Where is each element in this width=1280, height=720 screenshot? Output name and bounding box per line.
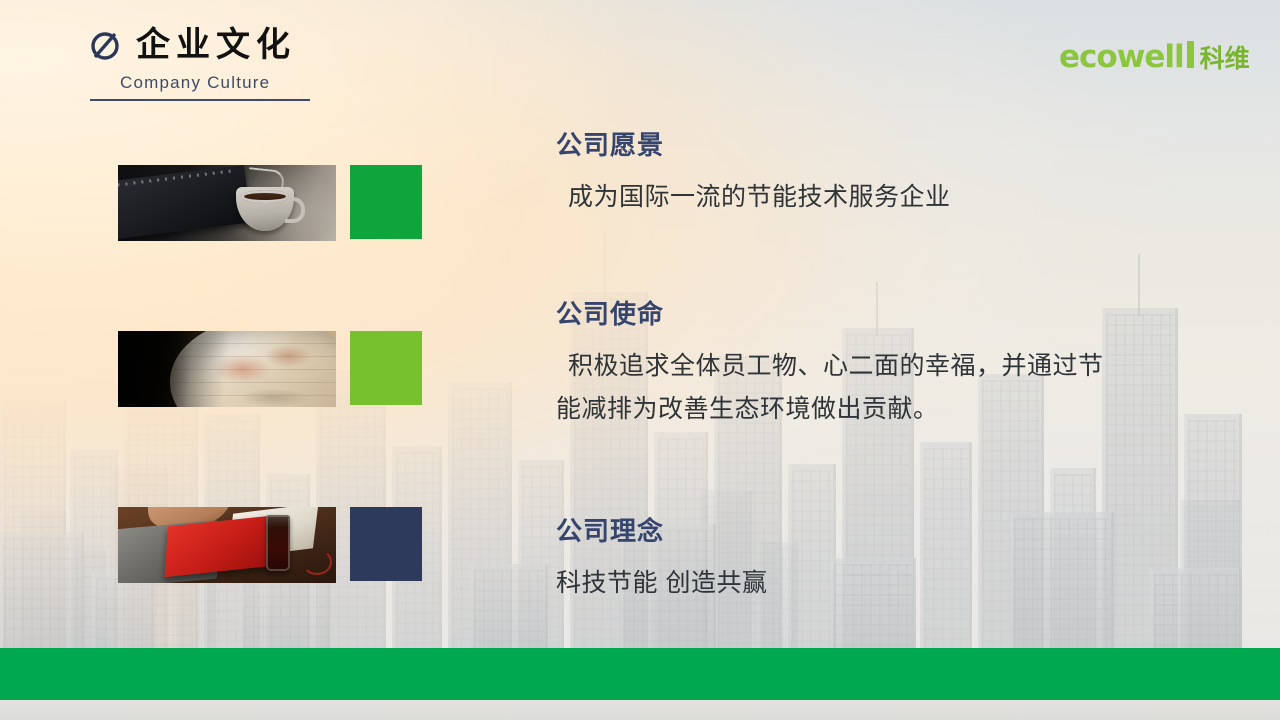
section-philosophy-heading: 公司理念	[556, 518, 767, 544]
color-swatch-2	[350, 331, 422, 405]
section-mission-body-line2: 能减排为改善生态环境做出贡献。	[556, 388, 1104, 431]
globe-map-photo	[118, 331, 336, 407]
photo-shadow-overlay	[118, 331, 336, 407]
media-row-2	[118, 331, 422, 407]
color-swatch-3	[350, 507, 422, 581]
page-title-row: 企业文化	[88, 28, 310, 62]
color-swatch-1	[350, 165, 422, 239]
section-mission-heading: 公司使命	[556, 301, 1104, 327]
red-notebook-shape	[165, 515, 280, 577]
laptop-notebook-jar-photo	[118, 507, 336, 583]
media-row-3	[118, 507, 422, 583]
cable-shape	[302, 549, 332, 575]
slide-canvas: 企业文化 Company Culture ecowell 科维 公司愿景 成为国…	[0, 0, 1280, 720]
footer-strip	[0, 700, 1280, 720]
section-mission-body: 积极追求全体员工物、心二面的幸福，并通过节 能减排为改善生态环境做出贡献。	[556, 345, 1104, 431]
media-row-1	[118, 165, 422, 241]
brand-logo: ecowell 科维	[1059, 40, 1250, 73]
logo-wordmark: ecowell	[1059, 42, 1184, 73]
page-title-en: Company Culture	[120, 73, 310, 93]
title-underline	[90, 99, 310, 101]
glass-jar-shape	[266, 515, 290, 571]
slashed-circle-icon	[88, 28, 122, 62]
logo-wordmark-cn: 科维	[1200, 47, 1250, 72]
section-philosophy: 公司理念 科技节能 创造共赢	[556, 518, 767, 605]
section-vision-body: 成为国际一流的节能技术服务企业	[556, 176, 951, 219]
logo-bar-mark	[1187, 41, 1194, 68]
notebook-and-coffee-photo	[118, 165, 336, 241]
page-title-block: 企业文化 Company Culture	[88, 28, 310, 101]
page-title-cn: 企业文化	[136, 28, 296, 62]
section-philosophy-body: 科技节能 创造共赢	[556, 562, 767, 605]
section-vision: 公司愿景 成为国际一流的节能技术服务企业	[556, 132, 951, 219]
section-vision-heading: 公司愿景	[556, 132, 951, 158]
section-mission-body-line1: 积极追求全体员工物、心二面的幸福，并通过节	[556, 345, 1104, 388]
coffee-cup-shape	[236, 187, 294, 231]
section-mission: 公司使命 积极追求全体员工物、心二面的幸福，并通过节 能减排为改善生态环境做出贡…	[556, 301, 1104, 431]
notebook-shape	[118, 165, 251, 239]
footer-accent-bar	[0, 648, 1280, 700]
